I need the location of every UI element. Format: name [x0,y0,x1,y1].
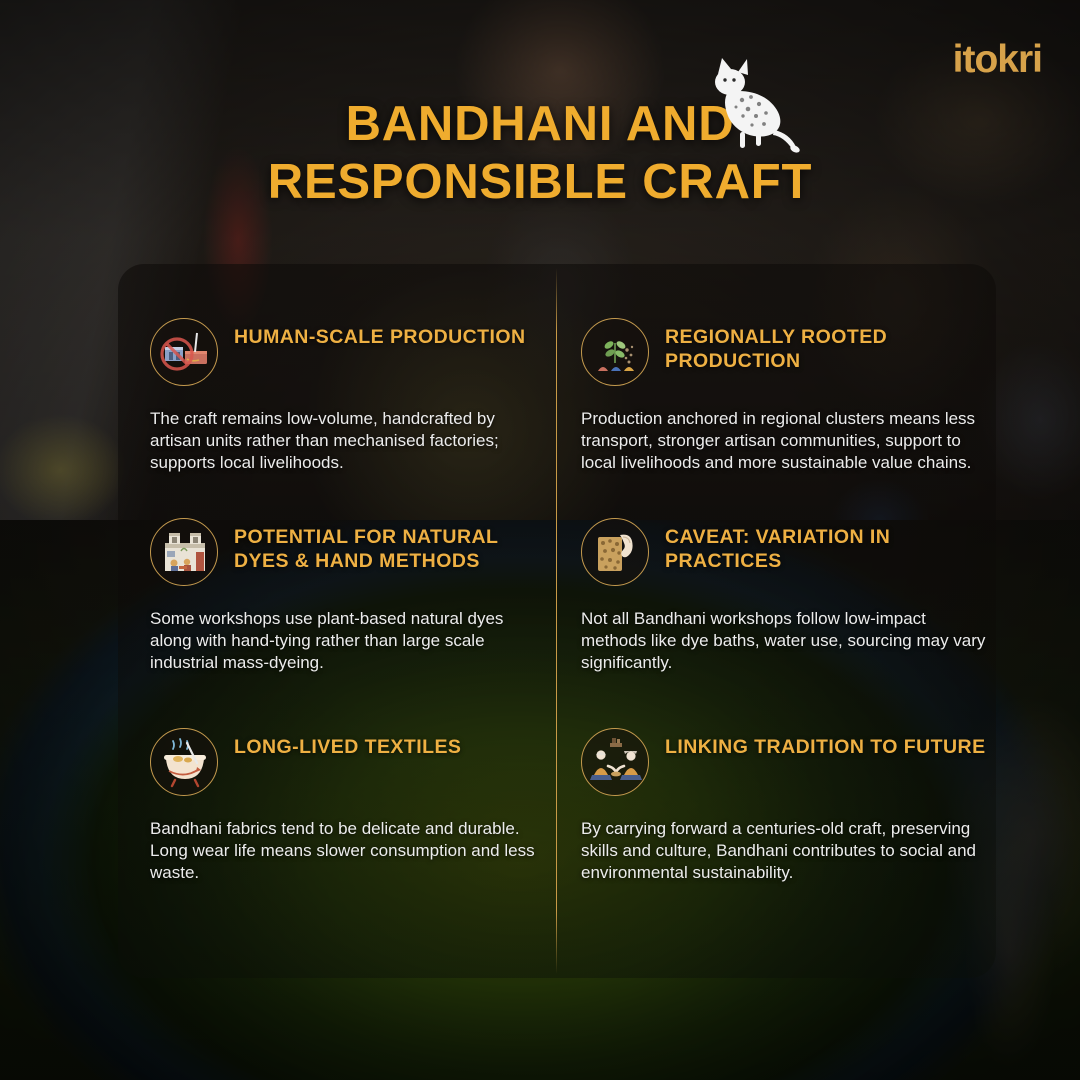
point-human-scale-production: HUMAN-SCALE PRODUCTION The craft remains… [150,318,550,473]
point-title: POTENTIAL FOR NATURAL DYES & HAND METHOD… [234,518,550,574]
point-body: By carrying forward a centuries-old craf… [581,818,989,883]
point-body: Some workshops use plant-based natural d… [150,608,542,673]
point-linking-tradition-to-future: LINKING TRADITION TO FUTURE By carrying … [581,728,993,883]
point-title: LINKING TRADITION TO FUTURE [665,728,986,760]
hand-holding-patterned-fabric-icon [581,518,649,586]
point-body: Not all Bandhani workshops follow low-im… [581,608,989,673]
point-title: CAVEAT: VARIATION IN PRACTICES [665,518,993,574]
points-grid: HUMAN-SCALE PRODUCTION The craft remains… [0,0,1080,1080]
point-header: REGIONALLY ROOTED PRODUCTION [581,318,993,386]
point-potential-for-natural-dyes: POTENTIAL FOR NATURAL DYES & HAND METHOD… [150,518,550,673]
point-title: LONG-LIVED TEXTILES [234,728,461,760]
point-regionally-rooted-production: REGIONALLY ROOTED PRODUCTION Production … [581,318,993,473]
white-cat-illustration [688,52,806,157]
point-header: LONG-LIVED TEXTILES [150,728,550,796]
no-factory-machine-icon [150,318,218,386]
point-body: Bandhani fabrics tend to be delicate and… [150,818,542,883]
point-body: Production anchored in regional clusters… [581,408,989,473]
steaming-dye-pot-icon [150,728,218,796]
artisan-workshop-building-icon [150,518,218,586]
point-long-lived-textiles: LONG-LIVED TEXTILES Bandhani fabrics ten… [150,728,550,883]
point-header: LINKING TRADITION TO FUTURE [581,728,993,796]
itokri-logo: itokri [953,40,1042,79]
point-body: The craft remains low-volume, handcrafte… [150,408,542,473]
point-title: REGIONALLY ROOTED PRODUCTION [665,318,993,374]
point-title: HUMAN-SCALE PRODUCTION [234,318,526,350]
point-header: CAVEAT: VARIATION IN PRACTICES [581,518,993,586]
point-header: POTENTIAL FOR NATURAL DYES & HAND METHOD… [150,518,550,586]
point-header: HUMAN-SCALE PRODUCTION [150,318,550,386]
point-caveat-variation-in-practices: CAVEAT: VARIATION IN PRACTICES Not all B… [581,518,993,673]
seedlings-and-soil-mounds-icon [581,318,649,386]
two-seated-artisans-icon [581,728,649,796]
